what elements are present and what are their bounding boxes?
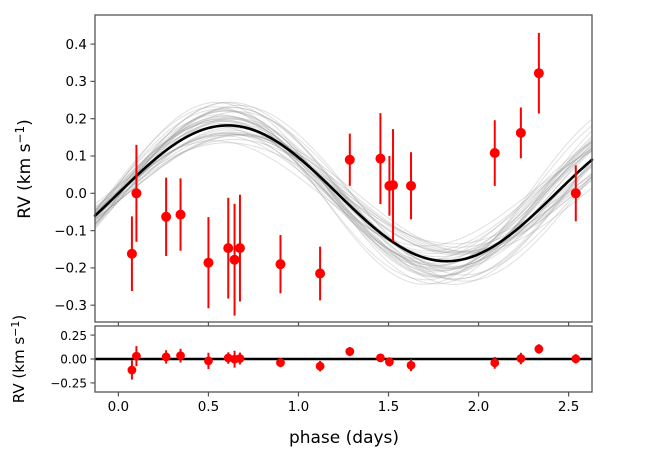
axes-frame xyxy=(95,15,592,322)
data-point xyxy=(516,354,525,363)
data-point xyxy=(128,366,137,375)
data-point xyxy=(571,354,580,363)
main-y-axis-title-suffix: ) xyxy=(15,119,35,126)
y-tick-label: −0.2 xyxy=(54,261,87,277)
data-point xyxy=(571,188,581,198)
svg-text:RV (km s−1): RV (km s−1) xyxy=(13,119,35,219)
svg-text:RV (km s−1): RV (km s−1) xyxy=(9,315,28,403)
data-point xyxy=(127,249,137,259)
residual-y-axis-title-suffix: ) xyxy=(10,315,28,321)
data-point xyxy=(276,358,285,367)
data-point xyxy=(275,259,285,269)
data-point xyxy=(162,352,171,361)
x-tick-label: 0.0 xyxy=(108,399,129,415)
data-point xyxy=(375,154,385,164)
y-tick-label: 0.3 xyxy=(66,74,87,90)
data-point xyxy=(203,258,213,268)
data-point xyxy=(176,210,186,220)
data-point xyxy=(534,345,543,354)
x-tick-label: 1.0 xyxy=(288,399,309,415)
residual-y-axis-title-text: RV (km s xyxy=(10,337,28,404)
main-y-axis-title-exponent: −1 xyxy=(13,126,27,144)
y-tick-label: 0.1 xyxy=(66,149,87,165)
y-tick-label: −0.25 xyxy=(50,377,87,391)
x-tick-label: 0.5 xyxy=(198,399,219,415)
residual-y-axis-title-exponent: −1 xyxy=(9,321,22,337)
data-point xyxy=(161,212,171,222)
x-tick-label: 2.5 xyxy=(558,399,579,415)
radial-velocity-figure: −0.3−0.2−0.10.00.10.20.30.4 −0.250.000.2… xyxy=(0,0,658,453)
x-tick-label: 1.5 xyxy=(378,399,399,415)
data-point xyxy=(516,128,526,138)
y-tick-label: 0.0 xyxy=(66,186,87,202)
x-tick-label: 2.0 xyxy=(468,399,489,415)
main-data-series xyxy=(127,33,581,316)
x-axis-title: phase (days) xyxy=(289,428,399,448)
data-point xyxy=(534,68,544,78)
y-tick-label: 0.00 xyxy=(60,353,87,367)
data-point xyxy=(131,188,141,198)
residual-y-axis-title: RV (km s−1) xyxy=(9,315,28,403)
data-point xyxy=(223,243,233,253)
y-tick-label: 0.4 xyxy=(66,37,87,53)
data-point xyxy=(376,353,385,362)
y-tick-label: 0.2 xyxy=(66,111,87,127)
data-point xyxy=(345,155,355,165)
y-tick-label: 0.25 xyxy=(60,329,87,343)
main-panel: −0.3−0.2−0.10.00.10.20.30.4 xyxy=(54,15,592,327)
data-point xyxy=(407,361,416,370)
main-y-axis-title: RV (km s−1) xyxy=(13,119,35,219)
data-point xyxy=(490,358,499,367)
data-point xyxy=(315,269,325,279)
data-point xyxy=(176,351,185,360)
data-point xyxy=(490,148,500,158)
y-tick-label: −0.3 xyxy=(54,298,87,314)
data-point xyxy=(235,243,245,253)
residual-panel: −0.250.000.250.00.51.01.52.02.5 xyxy=(50,326,592,415)
data-point xyxy=(236,354,245,363)
data-point xyxy=(345,347,354,356)
data-point xyxy=(388,180,398,190)
plot-canvas: −0.3−0.2−0.10.00.10.20.30.4 −0.250.000.2… xyxy=(0,0,658,453)
data-point xyxy=(204,357,213,366)
data-point xyxy=(132,352,141,361)
data-point xyxy=(316,362,325,371)
data-point xyxy=(230,255,240,265)
residual-data-series xyxy=(128,344,581,379)
data-point xyxy=(385,357,394,366)
main-y-axis-title-text: RV (km s xyxy=(15,143,35,218)
data-point xyxy=(406,181,416,191)
y-tick-label: −0.1 xyxy=(54,223,87,239)
